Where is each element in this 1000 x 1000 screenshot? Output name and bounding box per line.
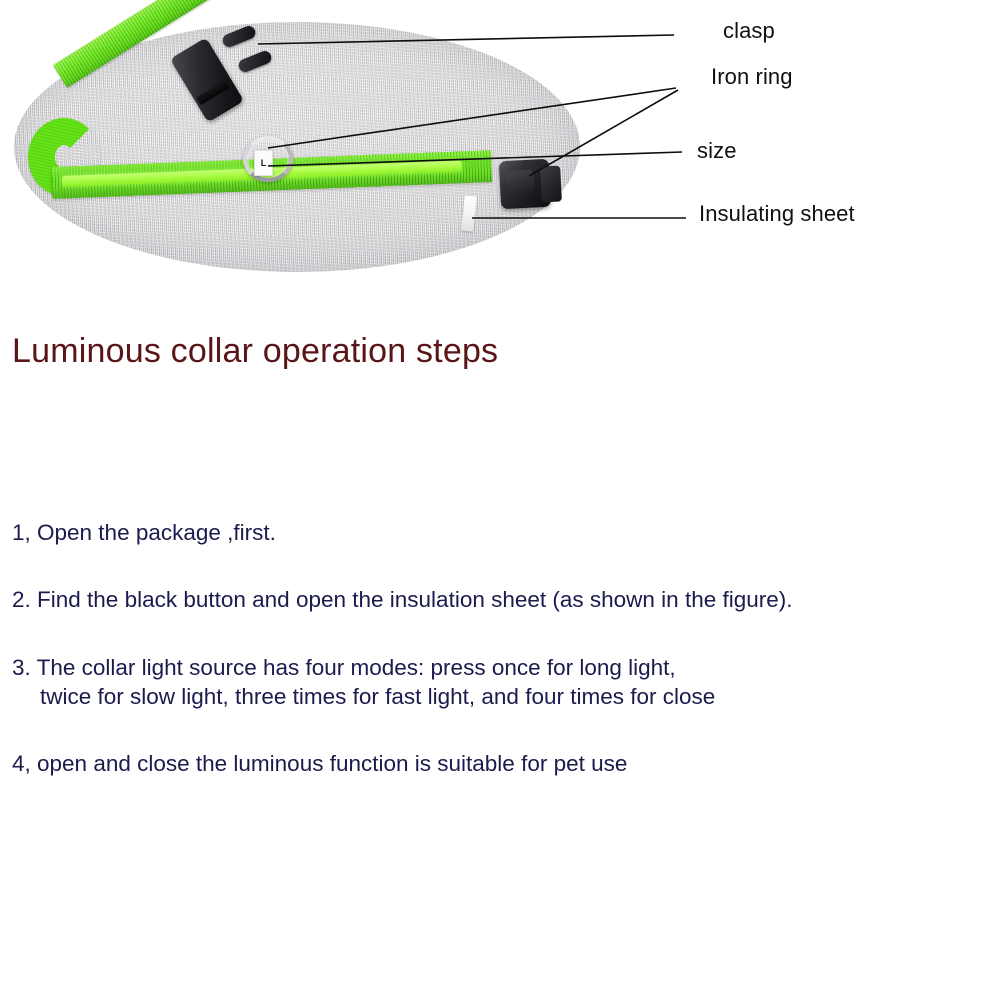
side-release-buckle-tab [540, 166, 562, 203]
product-photo: L [0, 0, 620, 300]
step-2-line-1: 2. Find the black button and open the in… [12, 587, 793, 612]
operation-steps-list: 1, Open the package ,first. 2. Find the … [12, 518, 982, 778]
step-item-1: 1, Open the package ,first. [12, 518, 982, 547]
callout-label-clasp: clasp [723, 18, 775, 44]
page-title: Luminous collar operation steps [12, 332, 498, 371]
step-4-line-1: 4, open and close the luminous function … [12, 751, 627, 776]
step-item-2: 2. Find the black button and open the in… [12, 585, 982, 614]
callout-label-iron-ring: Iron ring [711, 64, 793, 90]
size-tag-label: L [261, 159, 267, 168]
callout-label-insulating-sheet: Insulating sheet [699, 201, 855, 227]
step-3-line-2: twice for slow light, three times for fa… [12, 682, 982, 711]
callout-label-size: size [697, 138, 737, 164]
step-item-4: 4, open and close the luminous function … [12, 749, 982, 778]
step-1-line-1: 1, Open the package ,first. [12, 520, 276, 545]
step-3-line-1: 3. The collar light source has four mode… [12, 655, 676, 680]
product-infographic-page: L clasp Iron ring size Insulating sheet … [0, 0, 1000, 1000]
size-tag: L [254, 150, 273, 176]
step-item-3: 3. The collar light source has four mode… [12, 653, 982, 712]
